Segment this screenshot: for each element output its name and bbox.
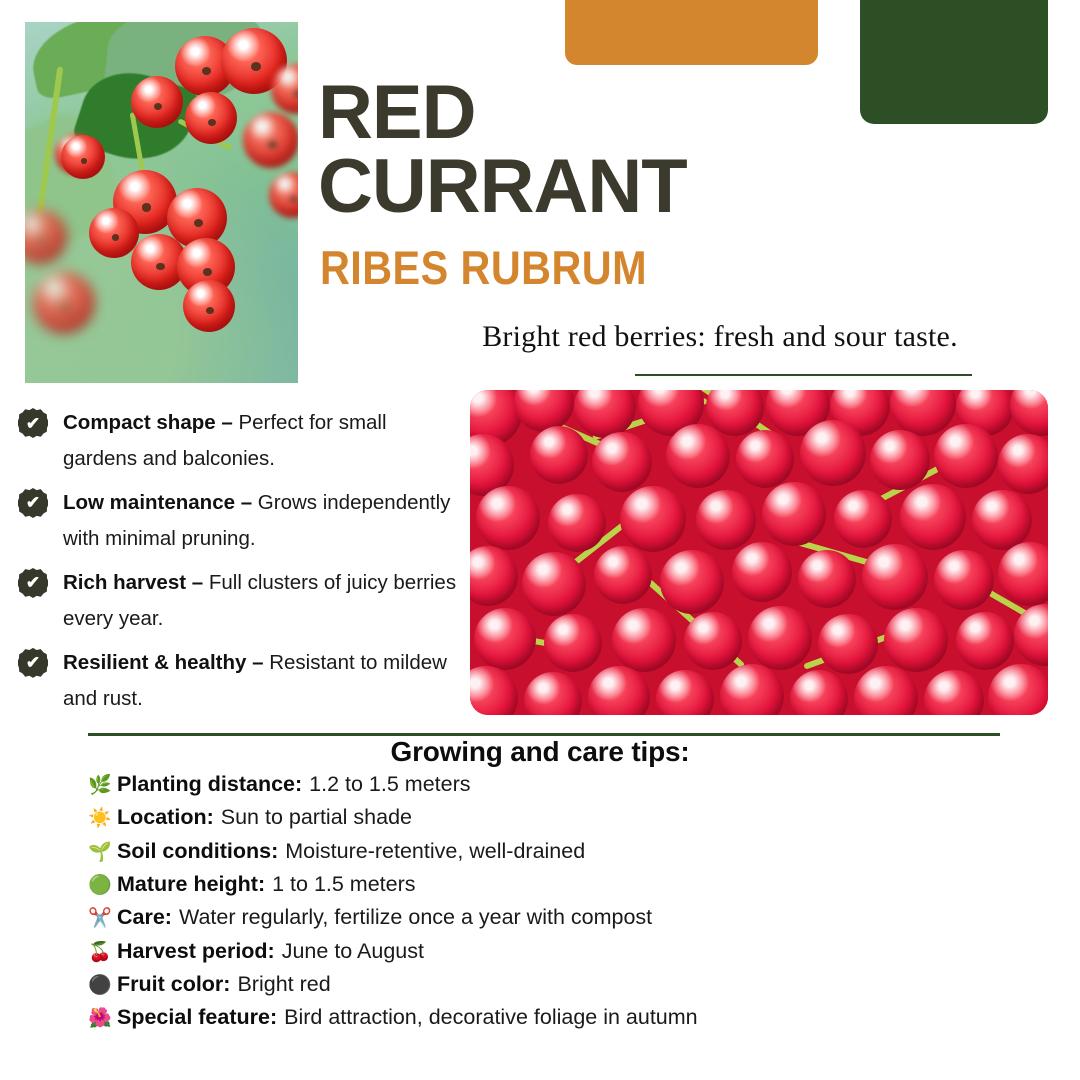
tip-value: Bright red [237,968,330,1001]
tip-value: Moisture-retentive, well-drained [285,835,585,868]
hero-photo-branch [25,22,298,383]
tip-label: Soil conditions: [117,835,278,868]
page-title: RED CURRANT [318,76,1018,225]
benefit-text: Resilient & healthy – Resistant to milde… [63,645,463,718]
title-line-2: CURRANT [318,150,1018,224]
decor-block-orange [565,0,818,65]
list-item: 🌿 Planting distance: 1.2 to 1.5 meters [88,768,1048,801]
benefit-label: Compact shape – [63,411,233,434]
tip-label: Care: [117,901,172,934]
list-item: ✔ Resilient & healthy – Resistant to mil… [18,645,463,718]
green-ball-icon: 🟢 [88,871,110,900]
title-line-1: RED [318,70,475,155]
benefit-label: Resilient & healthy – [63,651,264,674]
tips-list: 🌿 Planting distance: 1.2 to 1.5 meters ☀… [88,768,1048,1035]
cherries-icon: 🍒 [88,938,110,967]
seedling-icon: 🌱 [88,838,110,867]
berry-shape [185,92,237,144]
berry-shape [243,112,298,168]
dark-circle-icon: ⚫ [88,971,110,1000]
berry-shape [89,208,139,258]
tip-label: Fruit color: [117,968,230,1001]
latin-name-subtitle: RIBES RUBRUM [320,240,647,295]
list-item: 🌺 Special feature: Bird attraction, deco… [88,1001,1048,1034]
list-item: ✂️ Care: Water regularly, fertilize once… [88,901,1048,934]
benefit-text: Compact shape – Perfect for small garden… [63,405,463,478]
scissors-icon: ✂️ [88,904,110,933]
berry-shape [33,272,95,334]
check-badge-icon: ✔ [18,568,48,598]
tip-label: Planting distance: [117,768,302,801]
tip-label: Special feature: [117,1001,277,1034]
tip-value: Water regularly, fertilize once a year w… [179,901,652,934]
berry-shape [61,135,105,179]
tip-label: Mature height: [117,868,265,901]
list-item: ☀️ Location: Sun to partial shade [88,801,1048,834]
tip-label: Harvest period: [117,935,275,968]
sun-icon: ☀️ [88,804,110,833]
tagline-divider [635,374,972,376]
berry-shape [131,76,183,128]
benefit-label: Low maintenance – [63,491,252,514]
list-item: ✔ Compact shape – Perfect for small gard… [18,405,463,478]
tip-value: June to August [282,935,424,968]
list-item: ✔ Rich harvest – Full clusters of juicy … [18,565,463,638]
list-item: 🌱 Soil conditions: Moisture-retentive, w… [88,835,1048,868]
tip-label: Location: [117,801,214,834]
benefit-text: Low maintenance – Grows independently wi… [63,485,463,558]
tagline: Bright red berries: fresh and sour taste… [420,320,1020,354]
tips-heading: Growing and care tips: [0,736,1080,768]
check-badge-icon: ✔ [18,648,48,678]
list-item: 🟢 Mature height: 1 to 1.5 meters [88,868,1048,901]
check-badge-icon: ✔ [18,488,48,518]
photo-content [470,390,1048,715]
benefit-text: Rich harvest – Full clusters of juicy be… [63,565,463,638]
tip-value: Bird attraction, decorative foliage in a… [284,1001,698,1034]
benefits-list: ✔ Compact shape – Perfect for small gard… [18,405,463,725]
berry-shape [183,280,235,332]
herb-icon: 🌿 [88,771,110,800]
tip-value: Sun to partial shade [221,801,412,834]
list-item: ⚫ Fruit color: Bright red [88,968,1048,1001]
benefit-label: Rich harvest – [63,571,203,594]
photo-currant-pile [470,390,1048,715]
list-item: 🍒 Harvest period: June to August [88,935,1048,968]
list-item: ✔ Low maintenance – Grows independently … [18,485,463,558]
poster-canvas: RED CURRANT RIBES RUBRUM Bright red berr… [0,0,1080,1080]
tip-value: 1.2 to 1.5 meters [309,768,470,801]
tip-value: 1 to 1.5 meters [272,868,415,901]
hibiscus-icon: 🌺 [88,1004,110,1033]
check-badge-icon: ✔ [18,408,48,438]
